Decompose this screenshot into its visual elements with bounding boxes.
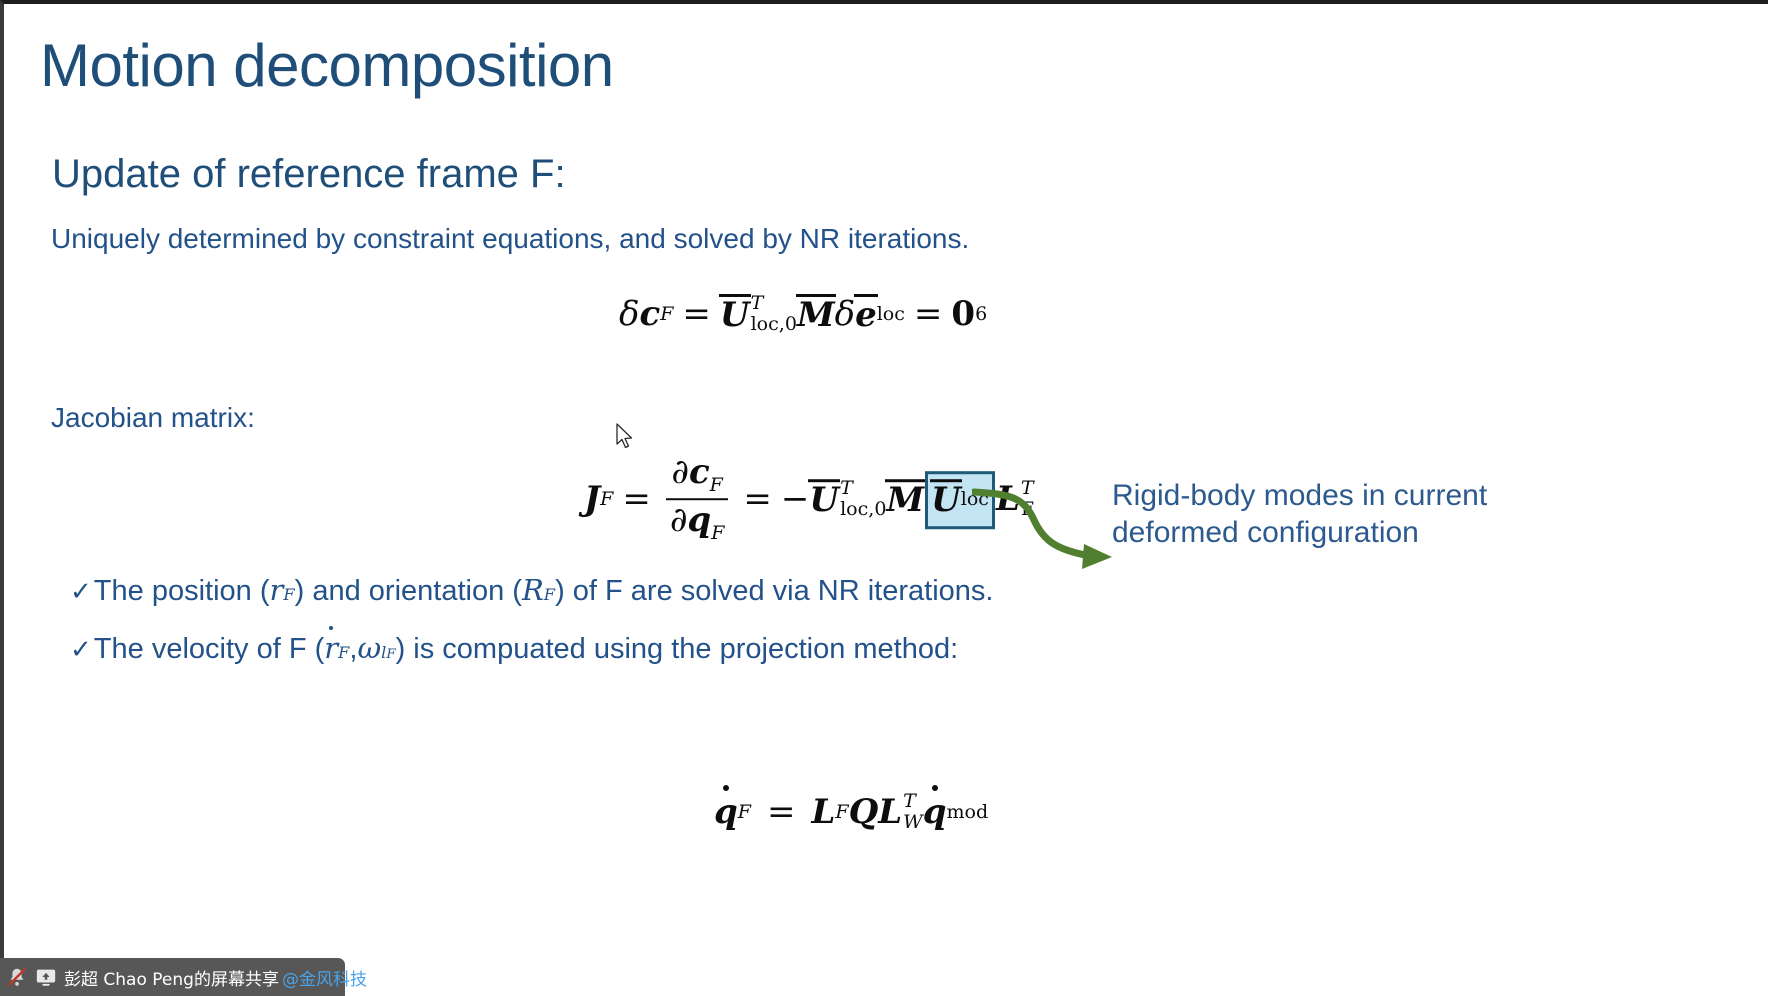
- bullet-item-position: ✓ The position (rF) and orientation (RF)…: [70, 573, 993, 608]
- Q-symbol: Q: [849, 792, 879, 832]
- delta-symbol-2: δ: [835, 294, 855, 334]
- q-mod-dot-symbol: q: [923, 792, 947, 832]
- r-dot-subscript: F: [338, 643, 349, 662]
- L-subscript: F: [1021, 500, 1034, 519]
- M-bar-symbol: M: [797, 293, 835, 335]
- partial-symbol-num: ∂: [671, 452, 689, 492]
- zero-subscript: 6: [975, 303, 987, 325]
- intro-line: Uniquely determined by constraint equati…: [51, 223, 969, 255]
- U-subsup: Tloc,0: [751, 294, 797, 334]
- U-bar-symbol-2: U: [931, 478, 961, 520]
- taskbar-company-label: @金风科技: [282, 965, 367, 990]
- L2-superscript: T: [903, 792, 923, 811]
- bullet-text-2b: ,: [349, 633, 357, 666]
- zero-vector: 0: [951, 294, 975, 334]
- check-icon: ✓: [70, 634, 92, 665]
- slide-canvas: Motion decomposition Update of reference…: [0, 0, 1768, 996]
- L-subsup: TF: [1021, 479, 1034, 519]
- equation-velocity: qF = LF Q LTW qmod: [714, 792, 988, 832]
- r-symbol: r: [270, 573, 284, 607]
- r-subscript: F: [283, 585, 294, 604]
- U-subscript: loc,0: [751, 315, 797, 334]
- q-subscript-den: F: [711, 522, 724, 544]
- e-subscript: loc: [877, 303, 905, 325]
- omega-subsubscript: F: [386, 647, 395, 662]
- L2-subscript: W: [903, 813, 923, 832]
- L2-subsup: TW: [903, 792, 923, 832]
- U1-superscript: T: [840, 479, 886, 498]
- J-symbol: J: [584, 479, 600, 519]
- partial-symbol-den: ∂: [670, 500, 688, 540]
- bullet-text-1b: ) and orientation (: [295, 575, 522, 608]
- fraction-numerator: ∂cF: [667, 455, 727, 498]
- c-symbol-num: c: [689, 452, 710, 492]
- equals-2: =: [734, 479, 781, 519]
- check-icon: ✓: [70, 576, 92, 607]
- taskbar-share-label: 彭超 Chao Peng的屏幕共享: [64, 965, 279, 990]
- e-bar-symbol: e: [855, 293, 877, 335]
- bullet-text-1c: ) of F are solved via NR iterations.: [555, 575, 993, 608]
- R-subscript: F: [544, 585, 555, 604]
- L-superscript: T: [1021, 479, 1034, 498]
- bullet-text-1a: The position (: [94, 575, 270, 608]
- screen-share-icon[interactable]: [35, 966, 57, 988]
- callout-line-1: Rigid-body modes in current: [1112, 478, 1542, 515]
- bell-muted-icon[interactable]: [6, 966, 28, 988]
- screen-share-taskbar[interactable]: 彭超 Chao Peng的屏幕共享 @金风科技: [0, 958, 345, 996]
- q-symbol-den: q: [687, 500, 711, 540]
- q-dot-symbol: q: [714, 792, 738, 832]
- J-subscript: F: [600, 488, 613, 510]
- bullet-item-velocity: ✓ The velocity of F (rF,ωlF) is compuate…: [70, 631, 958, 666]
- q-dot-subscript: F: [738, 801, 751, 823]
- equals-2: =: [905, 294, 952, 334]
- equation-jacobian: JF = ∂cF ∂qF = −UTloc,0 M Uloc LTF: [584, 455, 1034, 543]
- bullet-text-2a: The velocity of F (: [94, 633, 324, 666]
- q-mod-subscript: mod: [947, 801, 989, 823]
- equals-1: =: [673, 294, 720, 334]
- L-symbol-2: L: [878, 792, 902, 832]
- U1-subscript: loc,0: [840, 500, 886, 519]
- c-subscript-num: F: [710, 474, 723, 496]
- minus-sign: −: [781, 479, 810, 519]
- U-bar-symbol: U: [720, 293, 750, 335]
- U-superscript: T: [751, 294, 797, 313]
- callout-text: Rigid-body modes in current deformed con…: [1112, 478, 1542, 551]
- jacobian-label: Jacobian matrix:: [51, 402, 255, 434]
- M-bar-symbol: M: [886, 478, 924, 520]
- fraction-denominator: ∂qF: [666, 498, 729, 543]
- partial-derivative-fraction: ∂cF ∂qF: [666, 455, 729, 543]
- R-symbol: R: [522, 573, 544, 607]
- equals-sign: =: [751, 792, 812, 832]
- c-subscript: F: [660, 303, 673, 325]
- callout-line-2: deformed configuration: [1112, 515, 1542, 552]
- r-dot-symbol: r: [324, 631, 338, 665]
- L1-subscript: F: [835, 801, 848, 823]
- equals-1: =: [613, 479, 660, 519]
- L-symbol-1: L: [812, 792, 836, 832]
- page-title: Motion decomposition: [40, 34, 614, 97]
- section-heading: Update of reference frame F:: [52, 152, 566, 197]
- c-symbol: c: [639, 294, 660, 334]
- U2-subscript: loc: [961, 488, 989, 510]
- highlight-box-u-loc: Uloc: [925, 471, 995, 529]
- delta-symbol: δ: [619, 294, 639, 334]
- U1-subsup: Tloc,0: [840, 479, 886, 519]
- bullet-text-2c: ) is compuated using the projection meth…: [396, 633, 959, 666]
- equation-constraint: δcF = UTloc,0 M δeloc = 06: [619, 293, 987, 335]
- U-bar-symbol-1: U: [809, 478, 839, 520]
- omega-symbol: ω: [357, 631, 381, 665]
- mouse-cursor-icon: [616, 423, 636, 451]
- L-symbol: L: [996, 479, 1020, 519]
